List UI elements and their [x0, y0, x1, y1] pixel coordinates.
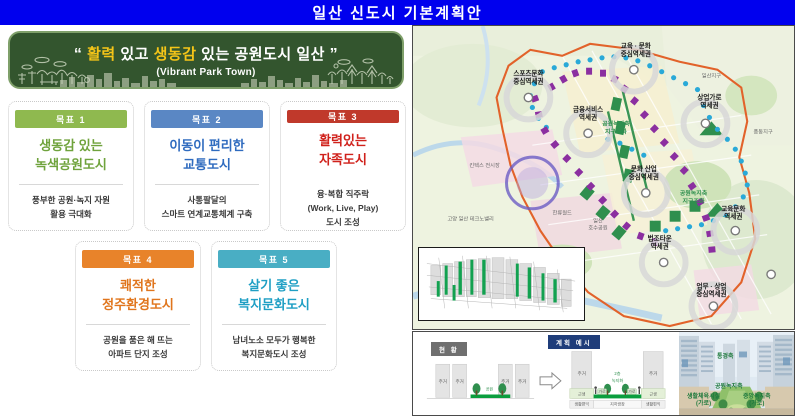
right-content-panel: 교육 · 문화중심역세권 스포츠문화중심역세권 금융서비스역세권 상업가로역세권…: [412, 25, 795, 416]
banner-text-2: 있는 공원도시 일산: [197, 46, 325, 63]
rendering-label-1: 통경축: [717, 354, 734, 361]
rendering-label-3: 생활체육시설 (가로): [687, 394, 720, 408]
svg-text:가로: 가로: [628, 389, 636, 394]
goal-body-2: 사통팔달의 스마트 연계교통체계 구축: [162, 193, 253, 221]
goal-card-4[interactable]: 목표 4 쾌적한 정주환경도시 공원을 품은 해 뜨는 아파트 단지 조성: [75, 241, 201, 371]
svg-text:주거: 주거: [578, 370, 586, 377]
goal-chip-5: 목표 5: [218, 250, 330, 268]
goal-card-2[interactable]: 목표 2 이동이 편리한 교통도시 사통팔달의 스마트 연계교통체계 구축: [144, 101, 270, 231]
svg-text:녹지화: 녹지화: [612, 377, 624, 383]
goal-body-5: 남녀노소 모두가 행복한 복지문화도시 조성: [233, 333, 316, 361]
banner-highlight-1: 활력: [87, 46, 116, 63]
goal-card-3[interactable]: 목표 3 활력있는 자족도시 융·복합 직주락 (Work, Live, Pla…: [280, 101, 406, 231]
svg-text:2층: 2층: [614, 370, 620, 376]
svg-text:주거: 주거: [439, 378, 447, 385]
goal-title-4: 쾌적한 정주환경도시: [102, 277, 174, 315]
goal-title-5: 살기 좋은 복지문화도시: [238, 277, 310, 315]
goal-chip-4: 목표 4: [82, 250, 194, 268]
goal-divider-4: [86, 324, 189, 325]
map-inset-detail-plan[interactable]: [418, 247, 585, 321]
goal-divider-1: [19, 184, 122, 185]
zoning-map[interactable]: 교육 · 문화중심역세권 스포츠문화중심역세권 금융서비스역세권 상업가로역세권…: [412, 25, 795, 330]
goal-divider-2: [155, 184, 258, 185]
goal-chip-2: 목표 2: [151, 110, 263, 128]
banner-subtitle: (Vibrant Park Town): [156, 67, 255, 78]
svg-text:근생: 근생: [650, 392, 658, 397]
concept-rendering-image[interactable]: 통경축 공원녹지축 생활체육시설 (가로) 중앙녹지축 (가로): [679, 332, 794, 415]
goal-cards-row-1: 목표 1 생동감 있는 녹색공원도시 풍부한 공원·녹지 자원 활용 극대화 목…: [8, 101, 406, 231]
rendering-label-2: 공원녹지축: [715, 384, 743, 391]
svg-text:생활편익: 생활편익: [646, 402, 661, 407]
goal-body-3: 융·복합 직주락 (Work, Live, Play) 도시 조성: [308, 187, 379, 229]
goal-title-2: 이동이 편리한 교통도시: [169, 137, 244, 175]
slide-title-bar: 일산 신도시 기본계획안: [0, 0, 795, 25]
goal-title-3: 활력있는 자족도시: [319, 132, 367, 170]
svg-text:주거: 주거: [501, 378, 509, 385]
quote-close: ”: [330, 46, 339, 63]
left-content-panel: “ 활력 있고 생동감 있는 공원도시 일산 ” (Vibrant Park T…: [0, 25, 412, 416]
svg-text:생활편익: 생활편익: [574, 402, 589, 407]
svg-text:가로: 가로: [598, 389, 606, 394]
goal-card-5[interactable]: 목표 5 살기 좋은 복지문화도시 남녀노소 모두가 행복한 복지문화도시 조성: [211, 241, 337, 371]
banner-text-1: 있고: [116, 46, 154, 63]
vision-banner: “ 활력 있고 생동감 있는 공원도시 일산 ” (Vibrant Park T…: [8, 31, 404, 89]
svg-text:주거: 주거: [455, 378, 463, 385]
goal-body-4: 공원을 품은 해 뜨는 아파트 단지 조성: [103, 333, 173, 361]
banner-highlight-2: 생동감: [154, 46, 197, 63]
svg-text:근생: 근생: [578, 392, 586, 397]
page-title: 일산 신도시 기본계획안: [312, 2, 482, 23]
banner-slogan: “ 활력 있고 생동감 있는 공원도시 일산 ”: [74, 43, 338, 64]
svg-text:지하광장: 지하광장: [610, 402, 625, 407]
svg-text:주거: 주거: [649, 370, 657, 377]
quote-open: “: [74, 46, 83, 63]
goal-card-1[interactable]: 목표 1 생동감 있는 녹색공원도시 풍부한 공원·녹지 자원 활용 극대화: [8, 101, 134, 231]
goal-divider-5: [222, 324, 325, 325]
diagram-label-current: 현 황: [431, 342, 467, 356]
svg-text:주거: 주거: [518, 378, 526, 385]
diagram-label-plan: 계획 예시: [548, 335, 600, 349]
goal-title-1: 생동감 있는 녹색공원도시: [35, 137, 107, 175]
slide-root: 일산 신도시 기본계획안: [0, 0, 795, 416]
inset-plan-graphic: [419, 248, 584, 320]
svg-text:공원: 공원: [486, 387, 494, 392]
goal-cards-row-2: 목표 4 쾌적한 정주환경도시 공원을 품은 해 뜨는 아파트 단지 조성 목표…: [75, 241, 337, 371]
goal-chip-3: 목표 3: [287, 110, 399, 123]
section-concept-diagram: 주거주거 주거주거 공원: [412, 331, 795, 416]
goal-chip-1: 목표 1: [15, 110, 127, 128]
before-after-diagram: 주거주거 주거주거 공원: [413, 332, 679, 415]
rendering-label-4: 중앙녹지축 (가로): [743, 394, 771, 408]
goal-body-1: 풍부한 공원·녹지 자원 활용 극대화: [32, 193, 110, 221]
